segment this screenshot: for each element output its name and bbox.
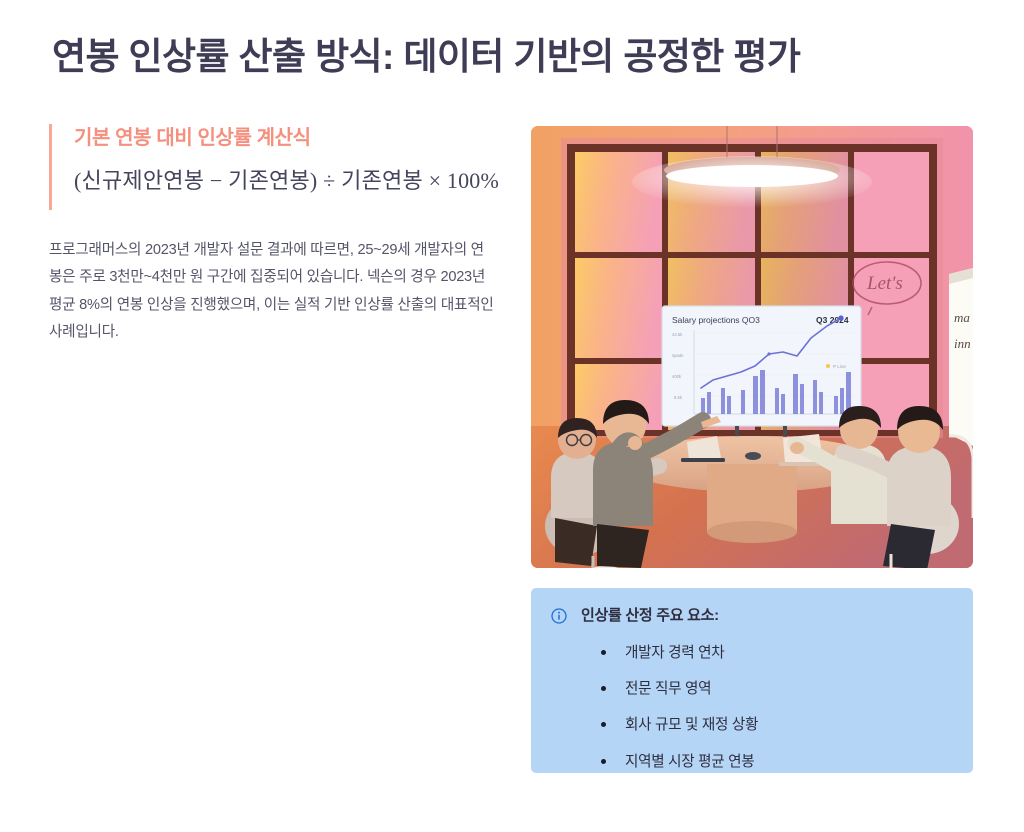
svg-text:inn: inn [954, 336, 971, 351]
info-circle-icon [551, 608, 567, 624]
callout-title: 인상률 산정 주요 요소: [581, 606, 719, 626]
meeting-room-illustration: Let's ma inn Salary [531, 126, 973, 568]
list-item: 회사 규모 및 재정 상황 [599, 715, 953, 735]
screen-legend: P Line [833, 364, 846, 369]
screen-title: Salary projections QO3 [672, 315, 760, 325]
key-factors-list: 개발자 경력 연차 전문 직무 영역 회사 규모 및 재정 상황 지역별 시장 … [599, 643, 953, 773]
list-item: 전문 직무 영역 [599, 679, 953, 699]
formula-heading: 기본 연봉 대비 인상률 계산식 [74, 124, 501, 152]
formula-block: 기본 연봉 대비 인상률 계산식 (신규제안연봉 − 기존연봉) ÷ 기존연봉 … [49, 124, 501, 210]
key-factors-callout: 인상률 산정 주요 요소: 개발자 경력 연차 전문 직무 영역 회사 규모 및… [531, 588, 973, 773]
illustration-graphic: Let's ma inn Salary [531, 126, 973, 568]
list-item: 지역별 시장 평균 연봉 [599, 752, 953, 772]
svg-text:Let's: Let's [866, 273, 903, 294]
formula-expression: (신규제안연봉 − 기존연봉) ÷ 기존연봉 × 100% [74, 164, 501, 197]
body-paragraph: 프로그래머스의 2023년 개발자 설문 결과에 따르면, 25~29세 개발자… [49, 237, 497, 347]
svg-text:spade: spade [672, 353, 684, 358]
svg-text:ma: ma [954, 310, 970, 325]
list-item: 개발자 경력 연차 [599, 643, 953, 663]
page-title: 연봉 인상률 산출 방식: 데이터 기반의 공정한 평가 [52, 34, 952, 80]
svg-text:400k: 400k [672, 374, 682, 379]
left-content-column: 기본 연봉 대비 인상률 계산식 (신규제안연봉 − 기존연봉) ÷ 기존연봉 … [49, 124, 501, 347]
whiteboard: ma inn [949, 268, 973, 446]
page-root: 연봉 인상률 산출 방식: 데이터 기반의 공정한 평가 기본 연봉 대비 인상… [0, 0, 1024, 832]
callout-header: 인상률 산정 주요 요소: [551, 606, 953, 626]
svg-text:44.5k: 44.5k [672, 332, 683, 337]
svg-text:9.5k: 9.5k [674, 395, 683, 400]
